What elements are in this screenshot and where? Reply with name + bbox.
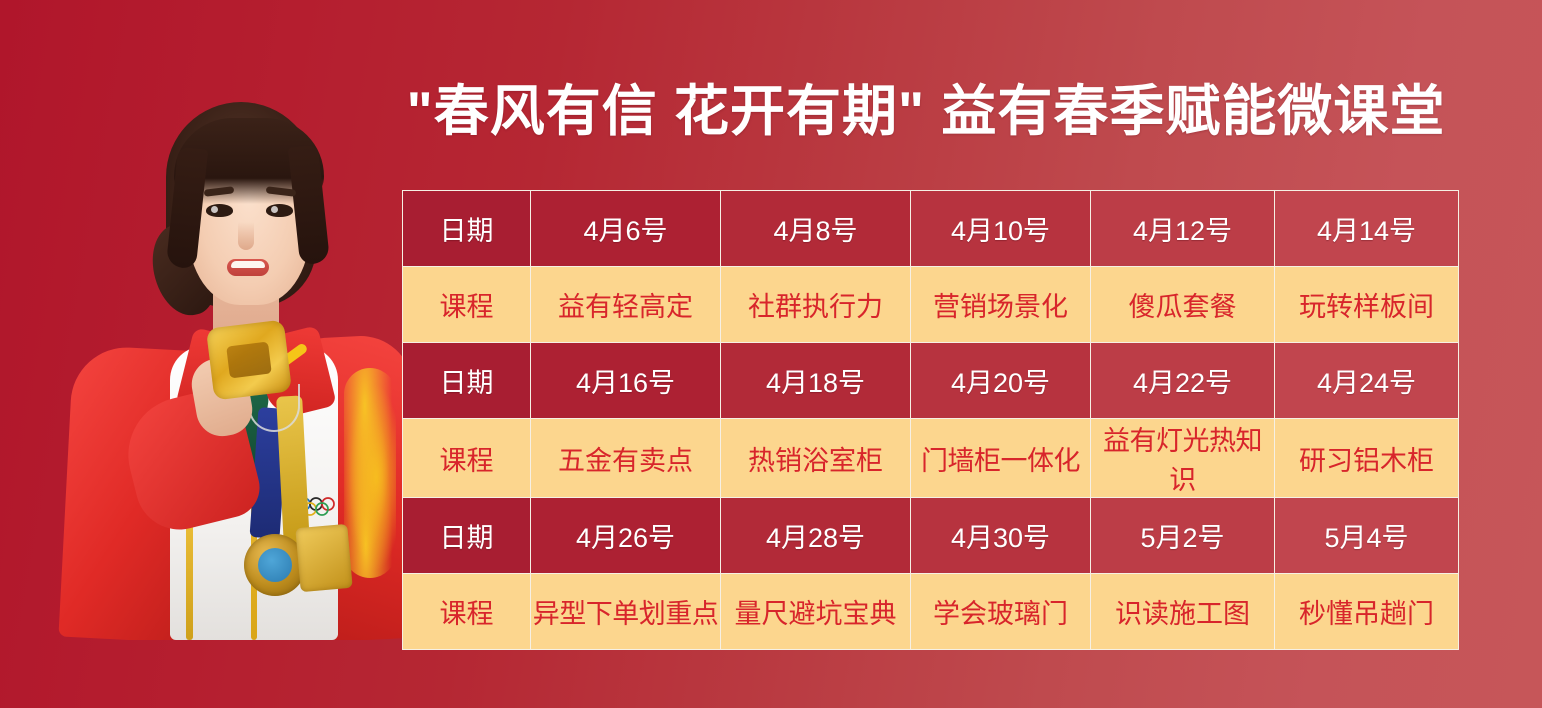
course-cell: 社群执行力: [721, 267, 911, 343]
teeth: [231, 261, 265, 268]
date-cell: 4月14号: [1275, 191, 1459, 267]
table-row: 课程 异型下单划重点 量尺避坑宝典 学会玻璃门 识读施工图 秒懂吊趟门: [403, 574, 1459, 650]
course-cell: 量尺避坑宝典: [721, 574, 911, 650]
date-cell: 4月26号: [531, 498, 721, 574]
eye-highlight-right: [271, 206, 278, 213]
date-cell: 4月18号: [721, 343, 911, 419]
course-cell: 门墙柜一体化: [911, 419, 1091, 498]
row-label-course: 课程: [403, 267, 531, 343]
row-label-date: 日期: [403, 191, 531, 267]
course-cell: 五金有卖点: [531, 419, 721, 498]
eye-highlight-left: [211, 206, 218, 213]
date-cell: 4月24号: [1275, 343, 1459, 419]
course-cell: 秒懂吊趟门: [1275, 574, 1459, 650]
course-schedule-table: 日期 4月6号 4月8号 4月10号 4月12号 4月14号 课程 益有轻高定 …: [402, 190, 1459, 650]
date-cell: 4月30号: [911, 498, 1091, 574]
eye-left: [206, 204, 233, 217]
date-cell: 4月6号: [531, 191, 721, 267]
date-cell: 4月8号: [721, 191, 911, 267]
date-cell: 4月10号: [911, 191, 1091, 267]
course-cell: 研习铝木柜: [1275, 419, 1459, 498]
course-cell: 识读施工图: [1091, 574, 1275, 650]
date-cell: 5月4号: [1275, 498, 1459, 574]
nose: [238, 222, 254, 250]
row-label-date: 日期: [403, 343, 531, 419]
date-cell: 4月16号: [531, 343, 721, 419]
course-cell: 玩转样板间: [1275, 267, 1459, 343]
row-label-course: 课程: [403, 574, 531, 650]
medal-emblem: [226, 342, 272, 379]
eye-right: [266, 204, 293, 217]
table-row: 日期 4月16号 4月18号 4月20号 4月22号 4月24号: [403, 343, 1459, 419]
course-cell: 热销浴室柜: [721, 419, 911, 498]
course-cell: 益有灯光热知识: [1091, 419, 1275, 498]
row-label-course: 课程: [403, 419, 531, 498]
table-row: 课程 益有轻高定 社群执行力 营销场景化 傻瓜套餐 玩转样板间: [403, 267, 1459, 343]
date-cell: 4月12号: [1091, 191, 1275, 267]
medal-plaque: [295, 524, 352, 592]
athlete-photo: [58, 96, 408, 640]
course-cell: 异型下单划重点: [531, 574, 721, 650]
course-cell: 学会玻璃门: [911, 574, 1091, 650]
banner-title: "春风有信 花开有期" 益有春季赋能微课堂: [372, 66, 1480, 146]
flame-graphic: [344, 368, 396, 578]
date-cell: 4月20号: [911, 343, 1091, 419]
table-row: 日期 4月26号 4月28号 4月30号 5月2号 5月4号: [403, 498, 1459, 574]
table-row: 课程 五金有卖点 热销浴室柜 门墙柜一体化 益有灯光热知识 研习铝木柜: [403, 419, 1459, 498]
course-cell: 益有轻高定: [531, 267, 721, 343]
date-cell: 5月2号: [1091, 498, 1275, 574]
row-label-date: 日期: [403, 498, 531, 574]
promotional-banner: "春风有信 花开有期" 益有春季赋能微课堂 日期 4月6号 4月8号 4月10号…: [0, 0, 1542, 708]
course-cell: 营销场景化: [911, 267, 1091, 343]
date-cell: 4月22号: [1091, 343, 1275, 419]
date-cell: 4月28号: [721, 498, 911, 574]
course-cell: 傻瓜套餐: [1091, 267, 1275, 343]
medal-round-center: [258, 548, 292, 582]
table-row: 日期 4月6号 4月8号 4月10号 4月12号 4月14号: [403, 191, 1459, 267]
